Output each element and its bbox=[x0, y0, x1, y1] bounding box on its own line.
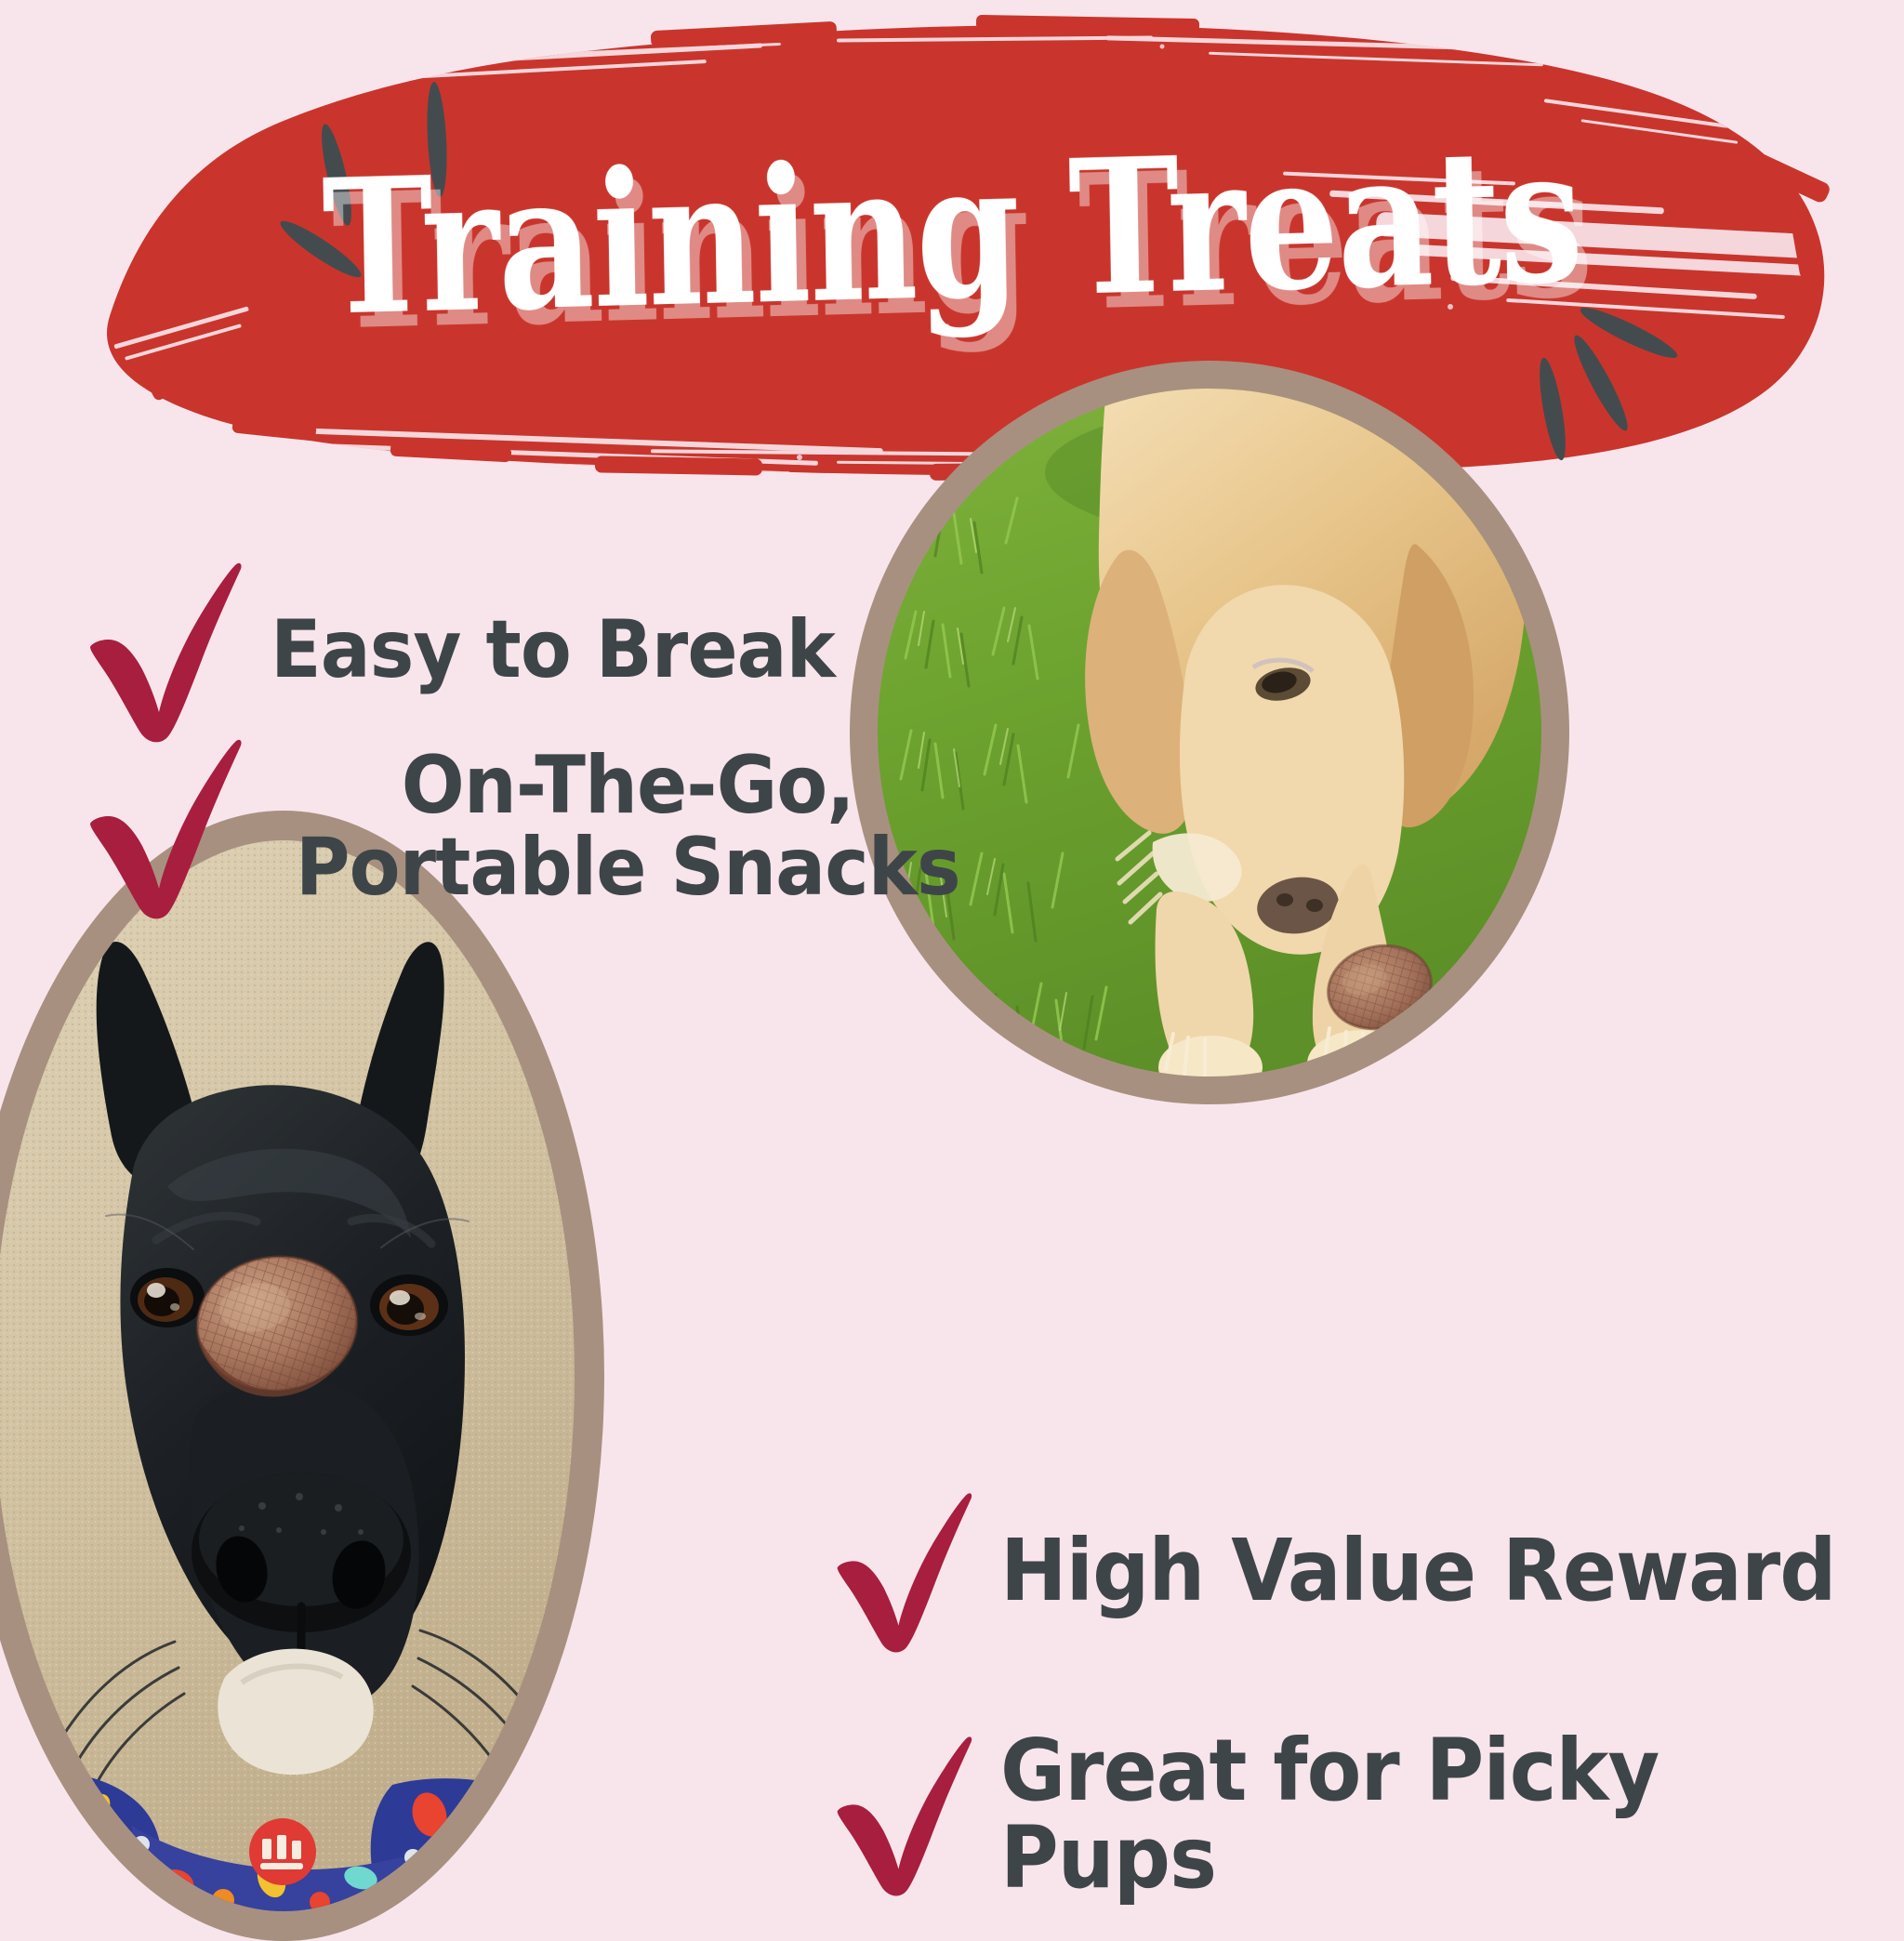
poster-canvas: Training Treats bbox=[0, 0, 1904, 1904]
golden-retriever-illustration bbox=[878, 389, 1541, 1076]
black-dog-photo bbox=[0, 811, 604, 1941]
feature-row-high-value-reward: High Value Reward bbox=[827, 1487, 1898, 1655]
check-icon bbox=[827, 1487, 976, 1655]
feature-label: High Value Reward bbox=[1000, 1527, 1836, 1615]
bandana-logo-badge bbox=[249, 1818, 316, 1885]
feature-row-great-for-picky-pups: Great for Picky Pups bbox=[827, 1727, 1904, 1902]
feature-label: On-The-Go, Portable Snacks bbox=[296, 746, 960, 908]
page-title: Training Treats bbox=[189, 120, 1714, 346]
black-dog-photo-image bbox=[0, 840, 575, 1911]
feature-label: Great for Picky Pups bbox=[1000, 1727, 1841, 1902]
golden-retriever-photo bbox=[850, 361, 1569, 1104]
feature-row-easy-to-break: Easy to Break bbox=[79, 558, 878, 744]
feature-row-on-the-go: On-The-Go, Portable Snacks bbox=[79, 734, 985, 920]
check-icon bbox=[79, 558, 246, 744]
feature-label: Easy to Break bbox=[271, 610, 835, 692]
golden-retriever-photo-image bbox=[878, 389, 1541, 1076]
check-icon bbox=[79, 734, 246, 920]
check-icon bbox=[827, 1731, 976, 1898]
black-dog-illustration bbox=[0, 840, 575, 1911]
